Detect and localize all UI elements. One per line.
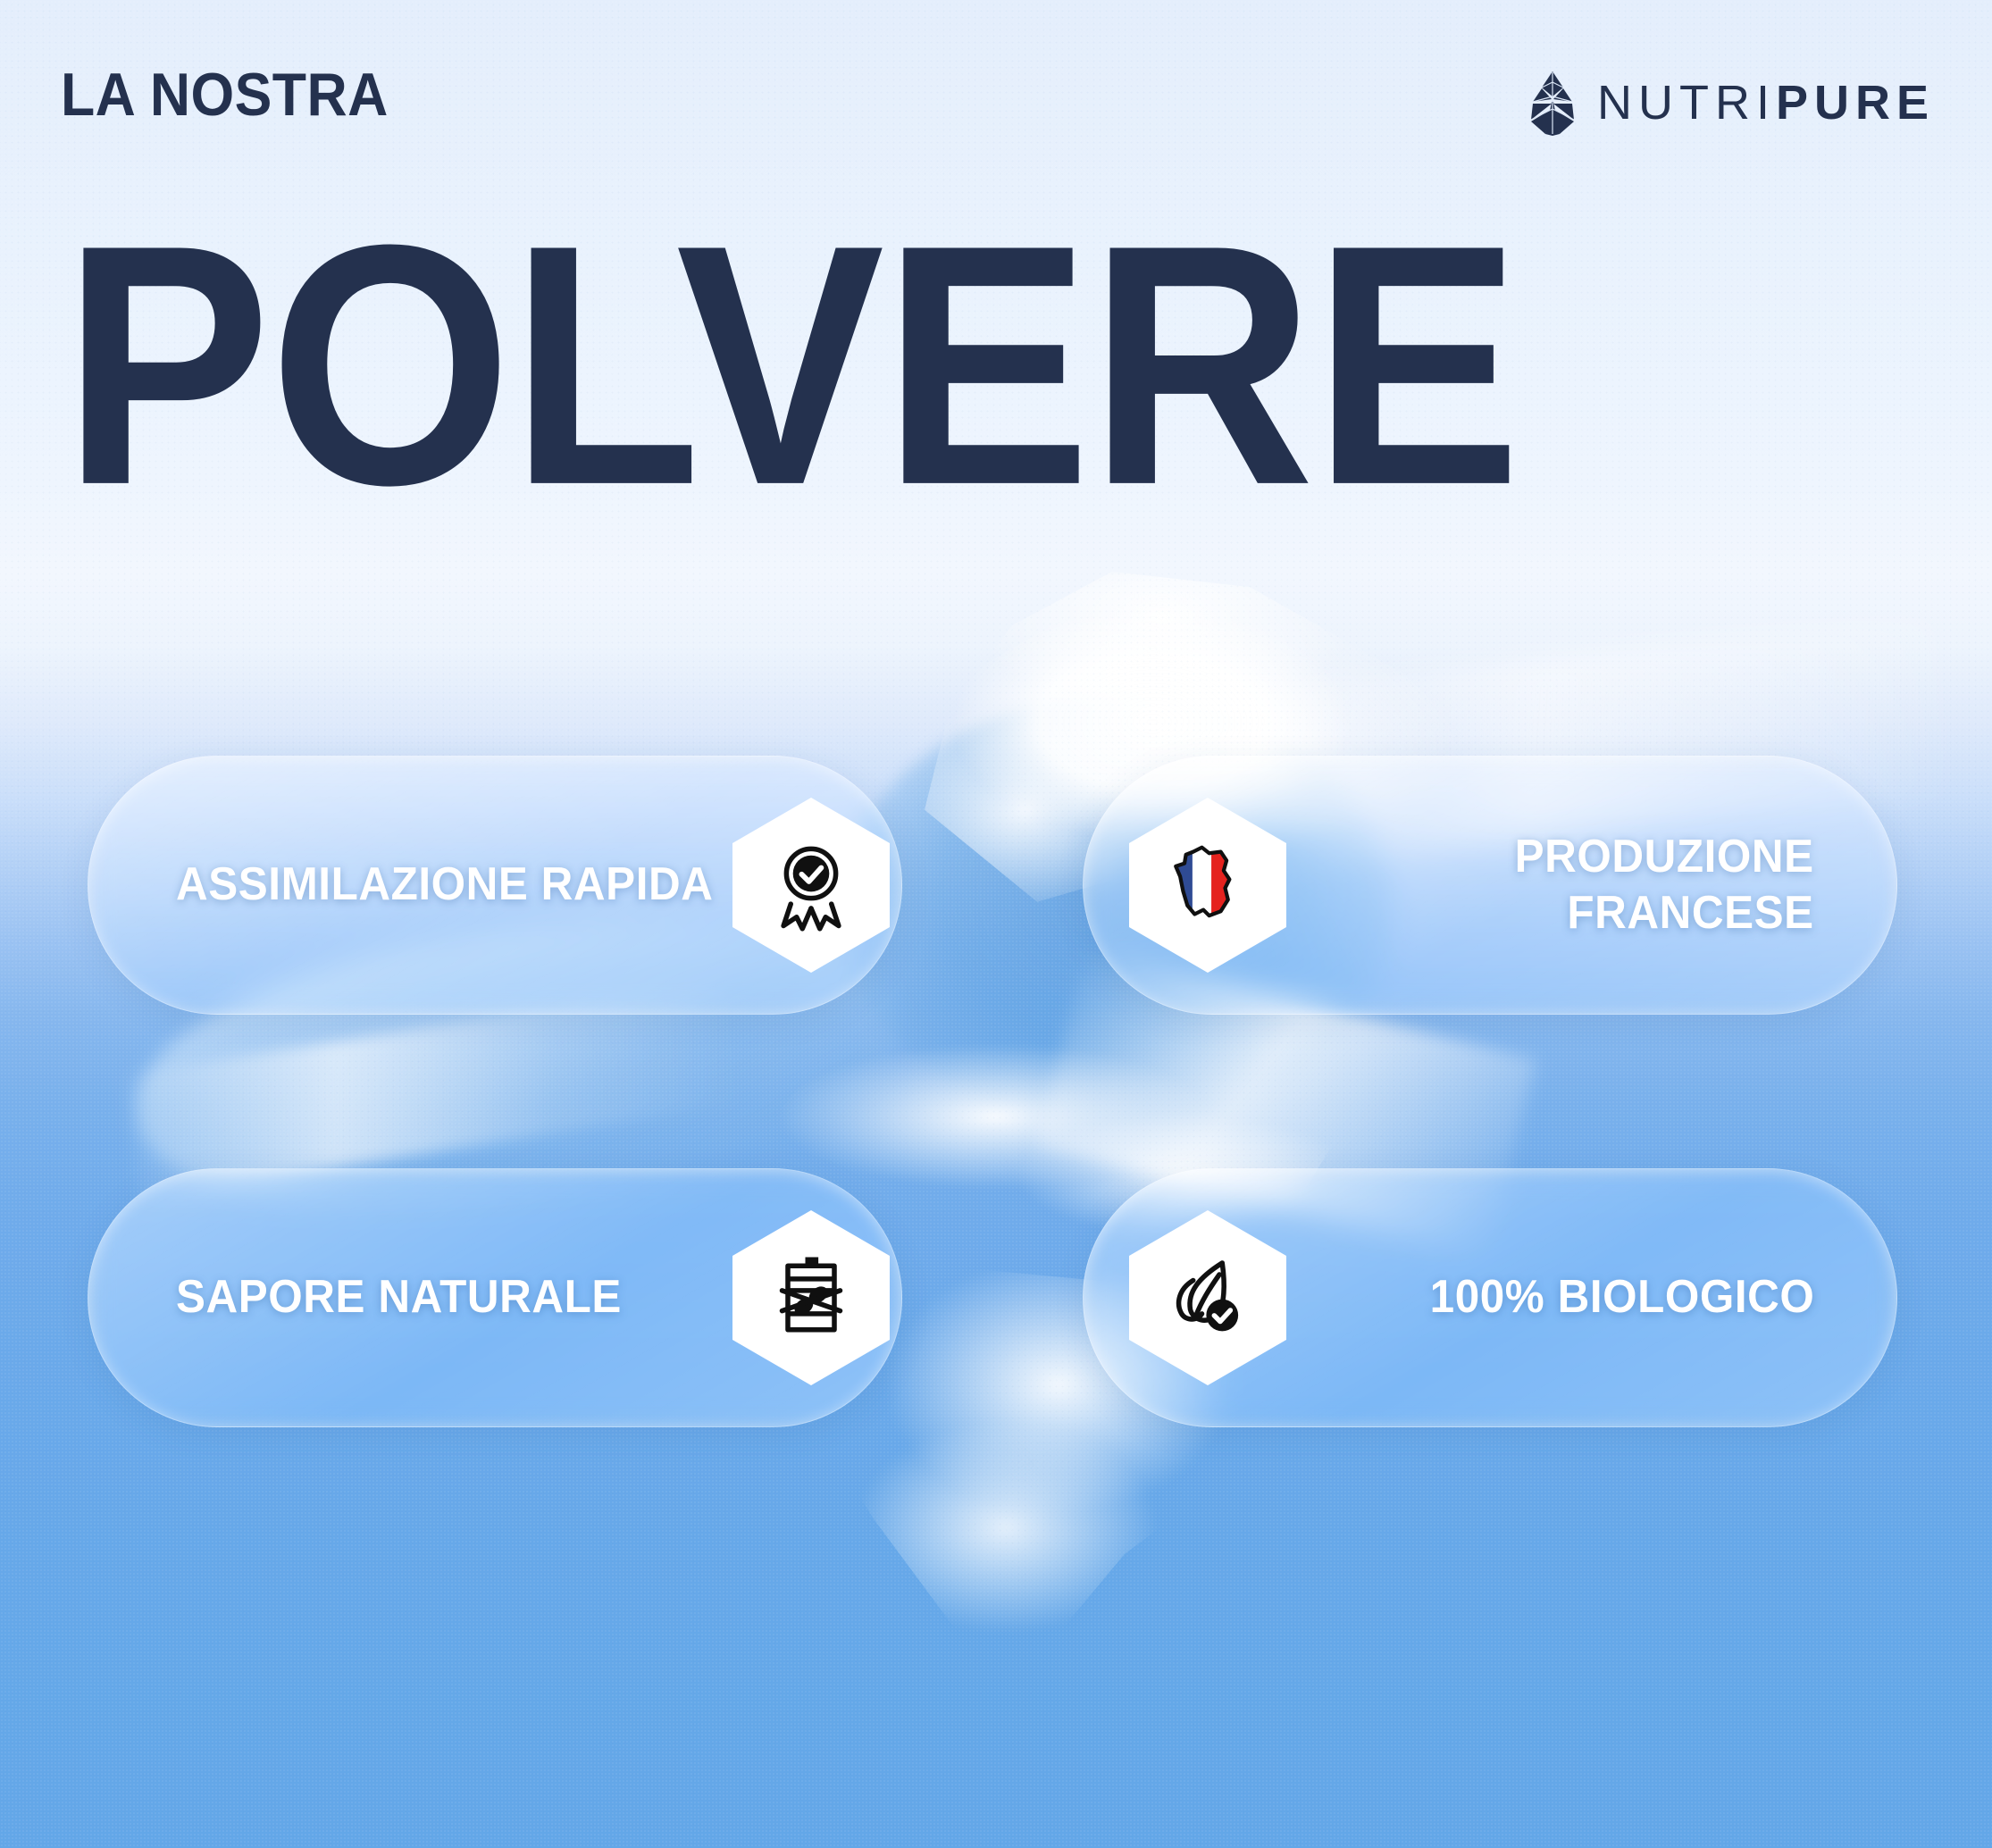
promo-canvas: LA NOSTRA NUTRIPURE <box>0 0 1992 1848</box>
brand-wordmark: NUTRIPURE <box>1597 79 1935 127</box>
brand-logo: NUTRIPURE <box>1527 70 1935 136</box>
france-map-flag-icon <box>1161 839 1254 932</box>
faceted-leaf-icon <box>1527 70 1578 136</box>
feature-badge-100-biologico <box>1129 1210 1286 1385</box>
feature-label: PRODUZIONE FRANCESE <box>1515 829 1814 942</box>
feature-label: SAPORE NATURALE <box>176 1269 622 1325</box>
page-kicker: LA NOSTRA <box>61 64 389 125</box>
feature-label: ASSIMILAZIONE RAPIDA <box>176 857 713 913</box>
feature-label: 100% BIOLOGICO <box>1429 1269 1814 1325</box>
brand-wordmark-bold: PURE <box>1776 76 1935 130</box>
feature-badge-sapore-naturale <box>732 1210 890 1385</box>
feature-label-line1: PRODUZIONE <box>1515 831 1814 882</box>
feature-label-line2: FRANCESE <box>1568 887 1814 939</box>
page-title: POLVERE <box>63 225 1992 506</box>
award-ribbon-check-icon <box>765 839 858 932</box>
organic-leaves-check-icon <box>1161 1251 1254 1344</box>
feature-badge-produzione-francese <box>1129 798 1286 973</box>
no-chemical-barrel-icon <box>765 1251 858 1344</box>
brand-wordmark-light: NUTRI <box>1597 76 1776 130</box>
feature-badge-assimilazione-rapida <box>732 798 890 973</box>
